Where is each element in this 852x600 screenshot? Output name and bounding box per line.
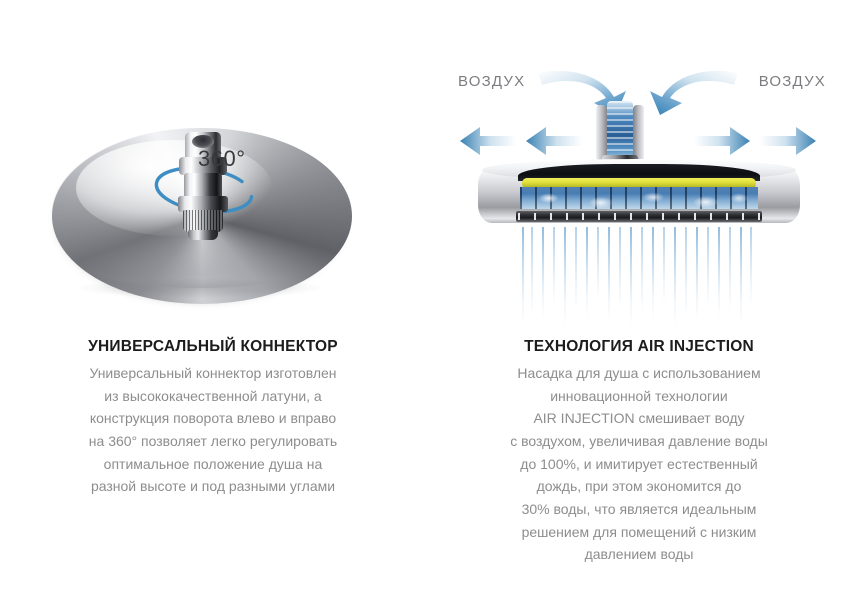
connector-base [188,230,218,240]
infographic-page: 360° УНИВЕРСАЛЬНЫЙ КОННЕКТОР Универсальн… [0,0,852,600]
water-column [607,101,633,163]
water-jet [740,227,742,327]
water-jet [575,227,577,311]
water-jet [718,227,720,318]
disc-drop-shadow [78,278,322,298]
arrow-left-icon [524,125,582,157]
caption-line: дождь, при этом экономится до [484,475,794,498]
connector-knurled-nut [183,210,223,232]
air-label-left: ВОЗДУХ [458,73,525,90]
water-jet [729,227,731,312]
caption-line: до 100%, и имитирует естественный [484,453,794,476]
caption-line: разной высоте и под разными углами [58,475,368,498]
water-jet [522,227,524,327]
water-jet [652,227,654,320]
water-jet [707,227,709,307]
caption-universal-connector: УНИВЕРСАЛЬНЫЙ КОННЕКТОР Универсальный ко… [0,338,426,498]
air-injection-illustration: ВОЗДУХ ВОЗДУХ [444,55,836,335]
stem-wall-right [633,105,644,161]
panel-universal-connector: 360° УНИВЕРСАЛЬНЫЙ КОННЕКТОР Универсальн… [0,0,426,600]
shower-disc-illustration: 360° [52,118,352,323]
inlet-stem-cutaway [596,101,644,165]
caption-line: Универсальный коннектор изготовлен [58,362,368,385]
caption-line: конструкция поворота влево и вправо [58,407,368,430]
water-jet [553,227,555,305]
rotation-angle-badge: 360° [198,146,246,172]
panel-air-injection: ВОЗДУХ ВОЗДУХ [426,0,852,600]
arrow-right-icon [694,125,752,157]
nozzle-holes [518,213,760,220]
arrow-left-icon [458,125,516,157]
water-jet [663,227,665,303]
stem-wall-left [596,105,607,161]
caption-line: 30% воды, что является идеальным [484,498,794,521]
caption-title-universal-connector: УНИВЕРСАЛЬНЫЙ КОННЕКТОР [0,338,426,355]
water-jet [630,227,632,327]
caption-body-air-injection: Насадка для душа с использованием иннова… [484,362,794,566]
water-spray [518,227,758,327]
caption-line: из высококачественной латуни, а [58,385,368,408]
arrow-right-icon [760,125,818,157]
shower-head-cutaway [478,159,800,229]
water-jet [608,227,610,323]
caption-line: Насадка для душа с использованием [484,362,794,385]
water-jet [674,227,676,327]
caption-line: с воздухом, увеличивая давление воды [484,430,794,453]
air-label-right: ВОЗДУХ [759,73,826,90]
caption-line: AIR INJECTION смешивает воду [484,407,794,430]
caption-air-injection: ТЕХНОЛОГИЯ AIR INJECTION Насадка для душ… [426,338,852,566]
water-jet [685,227,687,316]
caption-line: оптимальное положение душа на [58,453,368,476]
water-jet [750,227,752,306]
water-jet [542,227,544,321]
caption-body-universal-connector: Универсальный коннектор изготовлен из вы… [58,362,368,498]
water-jet [619,227,621,309]
water-jet [564,227,566,327]
caption-line: решением для помещений с низким [484,521,794,544]
caption-title-air-injection: ТЕХНОЛОГИЯ AIR INJECTION [426,338,852,355]
aerated-water-foam [520,191,758,209]
air-injection-figure: ВОЗДУХ ВОЗДУХ [426,55,852,330]
shower-head-top-figure: 360° [0,100,426,330]
water-jet [696,227,698,322]
caption-line: на 360° позволяет легко регулировать [58,430,368,453]
water-jet [586,227,588,319]
curved-arrow-down-left-icon [640,63,740,119]
caption-line: давлением воды [484,543,794,566]
water-jet [597,227,599,301]
water-jet [531,227,533,315]
caption-line: инновационной технологии [484,385,794,408]
water-jet [641,227,643,313]
